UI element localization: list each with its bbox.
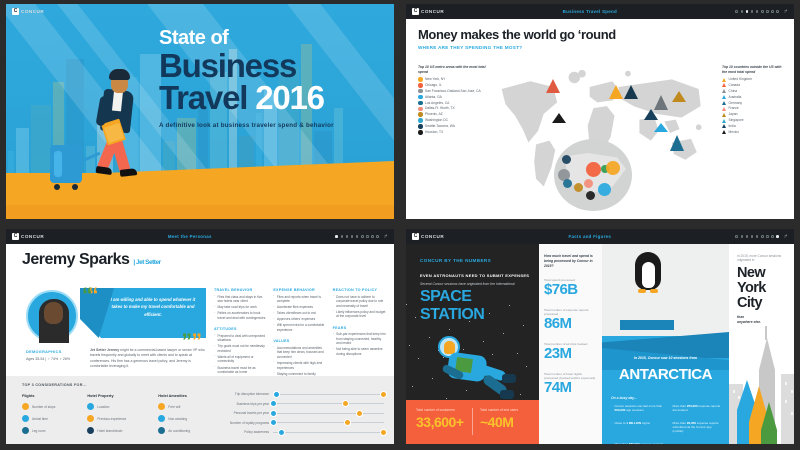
- legend-item-label: Australia: [729, 95, 742, 100]
- concur-logo[interactable]: C CONCUR: [12, 233, 44, 240]
- consideration-label: Hotel brand/chain: [97, 429, 122, 433]
- stat-value: 74M: [544, 380, 597, 397]
- legend-dot-icon: [418, 95, 423, 100]
- persona-bullet: Flies first class and stays in five-star…: [214, 295, 267, 304]
- persona-bullet: Accelerate files expenses: [273, 305, 326, 310]
- expand-icon[interactable]: ↱: [784, 234, 788, 240]
- page-dot-8[interactable]: [771, 235, 774, 238]
- concur-logo-text: CONCUR: [21, 9, 44, 14]
- legend-item-label: Canada: [729, 83, 741, 88]
- slider-track[interactable]: [273, 413, 384, 414]
- page-dot-8[interactable]: [771, 10, 774, 13]
- consideration-row[interactable]: Location: [87, 403, 126, 410]
- legend-item[interactable]: Houston, TX: [418, 130, 488, 135]
- consideration-column: Hotel PropertyLocationPrevious experienc…: [87, 394, 126, 439]
- title-line-3: Travel 2016: [159, 82, 384, 114]
- persona-columns: TRAVEL BEHAVIORFlies first class and sta…: [214, 288, 386, 383]
- persona-bullet: Files and reports when travel is complet…: [273, 295, 326, 304]
- title-word-travel: Travel: [159, 79, 247, 116]
- page-dot-1[interactable]: [735, 10, 738, 13]
- consideration-label: Arrival time: [32, 417, 48, 421]
- consideration-label: Leg room: [32, 429, 45, 433]
- slider-track[interactable]: [273, 394, 384, 395]
- legend-item[interactable]: Dallas-Ft. Worth, TX: [418, 106, 488, 111]
- legend-triangle-icon: [722, 89, 726, 93]
- legend-countries-title: Top 10 countries outside the US with the…: [722, 65, 786, 74]
- stat-value: $76B: [544, 282, 597, 299]
- consideration-header: Hotel Amenities: [158, 394, 190, 398]
- facts-canvas: CONCUR BY THE NUMBERS EVEN ASTRONAUTS NE…: [406, 244, 794, 444]
- page-dot-9[interactable]: [776, 10, 779, 13]
- consideration-row[interactable]: Non-smoking: [158, 415, 190, 422]
- legend-countries-items: United KingdomCanadaChinaAustraliaGerman…: [722, 77, 786, 134]
- consideration-row[interactable]: Free wifi: [158, 403, 190, 410]
- persona-bullet: Does not have to adhere to corporate tra…: [333, 295, 386, 309]
- consideration-row[interactable]: Number of stops: [22, 403, 55, 410]
- legend-item-label: Dallas-Ft. Worth, TX: [425, 106, 455, 111]
- legend-triangle-icon: [722, 119, 726, 123]
- legend-item[interactable]: India: [722, 124, 786, 129]
- concur-logo[interactable]: C CONCUR: [412, 233, 444, 240]
- nyc-line-2: York: [737, 281, 794, 296]
- us-magnifier[interactable]: [554, 139, 632, 211]
- slide-persona[interactable]: C CONCUR Meet the Personas ↱ Jeremy Spar…: [0, 225, 400, 450]
- nyc-line-3: City: [737, 296, 794, 311]
- consideration-label: Location: [97, 405, 109, 409]
- legend-us-title: Top 10 US metro areas with the most tota…: [418, 65, 488, 74]
- clock-icon: [22, 415, 29, 422]
- slider-group[interactable]: Trip disruption toleranceBusiness trips …: [199, 392, 384, 440]
- busy-bullet: More than 580,000 expense receipts uploa…: [611, 442, 664, 444]
- page-dot-9[interactable]: [376, 235, 379, 238]
- title-subtitle: A definitive look at business traveler s…: [159, 122, 384, 129]
- legend-us-metros: Top 10 US metro areas with the most tota…: [418, 65, 488, 136]
- page-dot-7[interactable]: [366, 235, 369, 238]
- stat-customers-value: 33,600+: [416, 414, 464, 430]
- busy-bullet: Concur sessions can last more than 560,0…: [611, 404, 664, 412]
- chrome-title: Business Travel Spend: [563, 9, 617, 14]
- stat-endusers-value: ~40M: [480, 414, 518, 430]
- legend-item[interactable]: Chicago, IL: [418, 83, 488, 88]
- slider-knob-orange[interactable]: [380, 391, 387, 398]
- slider-row[interactable]: Number of loyalty programs: [199, 421, 384, 425]
- expand-icon[interactable]: ↱: [384, 234, 388, 240]
- seat-icon: [22, 427, 29, 434]
- penguin-icon: [635, 252, 661, 294]
- hair: [109, 69, 130, 80]
- legend-triangle-icon: [722, 113, 726, 117]
- ground-shadow: [6, 205, 394, 219]
- slide-title[interactable]: State of Business Travel 2016 A definiti…: [0, 0, 400, 225]
- numbers-list: Total spend processed$76BTotal number of…: [544, 278, 597, 397]
- persona-block: REACTION TO POLICYDoes not have to adher…: [333, 288, 386, 319]
- page-dot-3[interactable]: [346, 235, 349, 238]
- legend-item-label: India: [729, 124, 736, 129]
- page-dot-2[interactable]: [741, 235, 744, 238]
- persona-bullet: Takes client/team out to eat: [273, 311, 326, 316]
- space-station-panel: CONCUR BY THE NUMBERS EVEN ASTRONAUTS NE…: [406, 244, 539, 444]
- considerations-columns: FlightsNumber of stopsArrival timeLeg ro…: [22, 394, 190, 439]
- persona-block-list: Files and reports when travel is complet…: [273, 295, 326, 333]
- space-heading: EVEN ASTRONAUTS NEED TO SUBMIT EXPENSES: [420, 273, 539, 278]
- map-canvas: Money makes the world go ‘round WHERE AR…: [406, 19, 794, 219]
- page-dot-5[interactable]: [756, 10, 759, 13]
- legend-item-label: Germany: [729, 101, 743, 106]
- legend-dot-icon: [418, 83, 423, 88]
- legend-dot-icon: [418, 89, 423, 94]
- slider-knob-orange[interactable]: [342, 400, 349, 407]
- marker-china: [654, 95, 668, 110]
- slider-knob-orange[interactable]: [344, 419, 351, 426]
- page-dot-5[interactable]: [756, 235, 759, 238]
- marker-north-america: [546, 79, 560, 93]
- chrome-title: Facts and Figures: [568, 234, 611, 239]
- slider-row[interactable]: Business trips per year: [199, 402, 384, 406]
- star: [406, 304, 407, 305]
- legend-item[interactable]: Los Angeles, CA: [418, 101, 488, 106]
- busy-bullet: More than 29,000 expense reports submitt…: [669, 421, 722, 434]
- suitcase-wheel: [72, 184, 78, 190]
- legend-item-label: China: [729, 89, 738, 94]
- legend-item[interactable]: Australia: [722, 95, 786, 100]
- busy-bullet-value: 29,000: [687, 421, 696, 425]
- consideration-label: Number of stops: [32, 405, 55, 409]
- map-subheading: WHERE ARE THEY SPENDING THE MOST?: [418, 45, 794, 50]
- legend-dot-icon: [418, 118, 423, 123]
- avatar-head: [44, 302, 63, 324]
- building-icon: [87, 427, 94, 434]
- slider-track[interactable]: [273, 422, 384, 423]
- busy-bullet-value: 580,000: [629, 442, 640, 444]
- persona-bullet: Wants all of equipment or connectivity: [214, 355, 267, 364]
- marker-japan: [672, 91, 686, 102]
- persona-bullet: May take road trips for work: [214, 305, 267, 310]
- persona-paragraph-lead: Jet Setter Jeremy: [90, 348, 119, 352]
- persona-name-row: Jeremy Sparks | Jet Setter: [22, 251, 394, 269]
- chrome-title: Meet the Personas: [168, 234, 212, 239]
- suitcase-highlight: [54, 151, 62, 177]
- consideration-column: Hotel AmenitiesFree wifiNon-smokingAir c…: [158, 394, 190, 439]
- ac-icon: [158, 427, 165, 434]
- persona-block-list: Does not have to adhere to corporate tra…: [333, 295, 386, 319]
- legend-dot-icon: [418, 124, 423, 129]
- slider-row[interactable]: Policy awareness: [199, 430, 384, 434]
- wifi-icon: [158, 403, 165, 410]
- consideration-label: Previous experience: [97, 417, 126, 421]
- legend-item-label: Houston, TX: [425, 130, 443, 135]
- slider-track[interactable]: [273, 432, 384, 433]
- customer-stats-band: Total number of customers 33,600+ Total …: [406, 400, 539, 444]
- legend-triangle-icon: [722, 78, 726, 82]
- persona-bullet: Will spend extra for a comfortable exper…: [273, 323, 326, 332]
- consideration-row[interactable]: Leg room: [22, 427, 55, 434]
- concur-logo-mark: C: [412, 8, 419, 15]
- slider-knob-orange[interactable]: [380, 429, 387, 436]
- slide-facts[interactable]: C CONCUR Facts and Figures ↱ CONCUR BY T…: [400, 225, 800, 450]
- persona-bullet: Prepared to deal with unexpected situati…: [214, 334, 267, 343]
- slider-label: Policy awareness: [199, 430, 269, 434]
- legend-triangle-icon: [722, 124, 726, 128]
- legend-us-items: New York, NYChicago, ILSan Francisco-Oak…: [418, 77, 488, 134]
- slider-knob-blue[interactable]: [270, 400, 277, 407]
- nyc-skyline: [729, 324, 794, 444]
- concur-logo-text: CONCUR: [421, 9, 444, 14]
- persona-paragraph: Jet Setter Jeremy might be a commercial-…: [90, 348, 208, 369]
- marker-mexico: [552, 113, 566, 123]
- legend-item[interactable]: San Francisco-Oakland-San Jose, CA: [418, 89, 488, 94]
- map-heading: Money makes the world go ‘round: [418, 27, 794, 42]
- title-year: 2016: [255, 79, 324, 116]
- persona-block-header: FEARS: [333, 326, 386, 330]
- concur-logo[interactable]: C CONCUR: [412, 8, 444, 15]
- persona-block-header: ATTITUDES: [214, 327, 267, 331]
- considerations-header: TOP 3 CONSIDERATIONS FOR...: [22, 383, 87, 387]
- persona-column: EXPENSE BEHAVIORFiles and reports when t…: [273, 288, 326, 383]
- slide-grid: State of Business Travel 2016 A definiti…: [0, 0, 800, 450]
- slider-row[interactable]: Trip disruption tolerance: [199, 392, 384, 396]
- persona-column: REACTION TO POLICYDoes not have to adher…: [333, 288, 386, 383]
- consideration-label: Air conditioning: [168, 429, 190, 433]
- nyc-sub: than anywhere else.: [737, 315, 794, 324]
- consideration-header: Hotel Property: [87, 394, 126, 398]
- page-dot-3[interactable]: [746, 10, 749, 13]
- marker-singapore: [654, 123, 668, 132]
- marker-germany: [624, 85, 638, 99]
- legend-dot-icon: [418, 130, 423, 135]
- slider-label: Number of loyalty programs: [199, 421, 269, 425]
- consideration-header: Flights: [22, 394, 55, 398]
- page-indicator-dots[interactable]: [735, 235, 778, 238]
- iceberg-top: [620, 320, 674, 330]
- legend-item-label: New York, NY: [425, 77, 445, 82]
- busy-bullet-value: 1 MILLION: [626, 421, 641, 425]
- space-kicker: CONCUR BY THE NUMBERS: [420, 258, 539, 263]
- persona-block-list: Accommodations and amenities that keep h…: [273, 346, 326, 376]
- concur-logo[interactable]: C CONCUR: [12, 8, 44, 15]
- concur-logo-mark: C: [12, 8, 19, 15]
- star: [409, 345, 410, 346]
- persona-block: EXPENSE BEHAVIORFiles and reports when t…: [273, 288, 326, 332]
- legend-item-label: Chicago, IL: [425, 83, 442, 88]
- traveler-illustration: [84, 69, 164, 189]
- concur-logo-text: CONCUR: [21, 234, 44, 239]
- legend-item[interactable]: Japan: [722, 112, 786, 117]
- penguin-foot: [638, 289, 646, 293]
- page-dot-5[interactable]: [356, 235, 359, 238]
- penguin-foot: [650, 289, 658, 293]
- legend-item-label: San Francisco-Oakland-San Jose, CA: [425, 89, 481, 94]
- bubble-phoenix: [574, 183, 583, 192]
- slider-label: Business trips per year: [199, 402, 269, 406]
- band-divider: [472, 408, 473, 435]
- antarctica-panel: In 2015, Concur saw 10 sessions from ANT…: [602, 244, 729, 444]
- page-dot-4[interactable]: [751, 10, 754, 13]
- busy-bullet: Close to 1 MILLION logins: [611, 421, 664, 434]
- persona-block: VALUESAccommodations and amenities that …: [273, 339, 326, 376]
- page-dot-2[interactable]: [741, 10, 744, 13]
- legend-item[interactable]: Mexico: [722, 130, 786, 135]
- legend-item[interactable]: Washington DC: [418, 118, 488, 123]
- legend-item-label: United Kingdom: [729, 77, 752, 82]
- consideration-row[interactable]: Arrival time: [22, 415, 55, 422]
- slider-knob-orange[interactable]: [356, 410, 363, 417]
- bubble-newyork: [606, 161, 620, 175]
- persona-bullet: Not being able to seem assertive during …: [333, 347, 386, 356]
- page-dot-7[interactable]: [766, 10, 769, 13]
- legend-item[interactable]: Singapore: [722, 118, 786, 123]
- nyc-big: New York City: [737, 266, 794, 310]
- legend-item[interactable]: New York, NY: [418, 77, 488, 82]
- legend-item-label: Washington DC: [425, 118, 448, 123]
- legend-item-label: Los Angeles, CA: [425, 101, 449, 106]
- page-dot-9[interactable]: [776, 235, 779, 238]
- bubble-houston: [586, 191, 595, 200]
- location-icon: [87, 403, 94, 410]
- consideration-row[interactable]: Previous experience: [87, 415, 126, 422]
- legend-item[interactable]: China: [722, 89, 786, 94]
- consideration-row[interactable]: Hotel brand/chain: [87, 427, 126, 434]
- slider-row[interactable]: Personal travels per year: [199, 411, 384, 415]
- astronaut-boot-2: [500, 390, 514, 399]
- persona-block-header: EXPENSE BEHAVIOR: [273, 288, 326, 292]
- demographics-label: DEMOGRAPHICS: [26, 350, 62, 354]
- bubble-chicago: [586, 162, 601, 177]
- legend-triangle-icon: [722, 107, 726, 111]
- stat-endusers-label: Total number of end users: [480, 408, 518, 412]
- page-dot-3[interactable]: [746, 235, 749, 238]
- page-dot-7[interactable]: [766, 235, 769, 238]
- legend-item[interactable]: Germany: [722, 101, 786, 106]
- legend-item[interactable]: Seattle-Tacoma, WA: [418, 124, 488, 129]
- chrome-bar-title: C CONCUR: [6, 4, 394, 19]
- persona-block: FEARSSub-par experiences that keep him f…: [333, 326, 386, 357]
- expand-icon[interactable]: ↱: [784, 9, 788, 15]
- legend-item-label: Japan: [729, 112, 738, 117]
- legend-item-label: Mexico: [729, 130, 739, 135]
- legend-item-label: Singapore: [729, 118, 744, 123]
- considerations-band: TOP 3 CONSIDERATIONS FOR... FlightsNumbe…: [6, 376, 394, 444]
- page-dot-4[interactable]: [751, 235, 754, 238]
- busy-day-list: Concur sessions can last more than 560,0…: [611, 404, 722, 444]
- legend-countries: Top 10 countries outside the US with the…: [722, 65, 786, 136]
- bubble-losangeles: [563, 179, 572, 188]
- marker-australia: [670, 135, 684, 151]
- legend-triangle-icon: [722, 83, 726, 87]
- shoe-back: [96, 166, 113, 175]
- page-indicator-dots[interactable]: [735, 10, 778, 13]
- slider-label: Personal travels per year: [199, 411, 269, 415]
- consideration-row[interactable]: Air conditioning: [158, 427, 190, 434]
- legend-triangle-icon: [722, 95, 726, 99]
- newyork-panel: In 2015, more Concur sessions originated…: [729, 244, 794, 444]
- building: [31, 105, 51, 181]
- slider-knob-blue[interactable]: [270, 419, 277, 426]
- persona-bullet: Sub-par experiences that keep him from s…: [333, 332, 386, 346]
- star: [449, 329, 450, 330]
- persona-block-header: TRAVEL BEHAVIOR: [214, 288, 267, 292]
- slider-knob-blue[interactable]: [270, 410, 277, 417]
- page-indicator-dots[interactable]: [335, 235, 378, 238]
- page-dot-1[interactable]: [335, 235, 338, 238]
- suitcase-wheel: [54, 184, 60, 190]
- pin-icon: [22, 403, 29, 410]
- demographics-value: Ages 35-54 | ♂ 74% ♀ 26%: [26, 357, 70, 361]
- antarctica-sub: In 2015, Concur saw 10 sessions from: [602, 356, 729, 360]
- slider-knob-blue[interactable]: [273, 391, 280, 398]
- page-dot-4[interactable]: [351, 235, 354, 238]
- consideration-label: Non-smoking: [168, 417, 187, 421]
- persona-bullet: Impressing clients with high-end experie…: [273, 361, 326, 370]
- persona-column: TRAVEL BEHAVIORFlies first class and sta…: [214, 288, 267, 383]
- penguin-belly: [642, 262, 655, 288]
- bubble-dallas: [584, 179, 593, 188]
- star-icon: [87, 415, 94, 422]
- stat-value: 86M: [544, 316, 597, 333]
- legend-item-label: Seattle-Tacoma, WA: [425, 124, 455, 129]
- title-canvas: State of Business Travel 2016 A definiti…: [6, 4, 394, 219]
- legend-item[interactable]: Atlanta, GA: [418, 95, 488, 100]
- legend-item[interactable]: France: [722, 106, 786, 111]
- star: [412, 386, 413, 387]
- chrome-bar-facts: C CONCUR Facts and Figures ↱: [406, 229, 794, 244]
- page-dot-6[interactable]: [361, 235, 364, 238]
- antarctica-big: ANTARCTICA: [602, 366, 729, 383]
- slider-track[interactable]: [273, 403, 384, 404]
- persona-block-header: REACTION TO POLICY: [333, 288, 386, 292]
- shoe-front: [120, 168, 138, 177]
- consideration-column: FlightsNumber of stopsArrival timeLeg ro…: [22, 394, 55, 439]
- astronaut-boot-1: [502, 374, 516, 383]
- marker-india: [644, 109, 658, 120]
- stat-customers: Total number of customers 33,600+: [416, 408, 464, 430]
- concur-logo-mark: C: [12, 233, 19, 240]
- legend-item-label: France: [729, 106, 739, 111]
- persona-bullet: Accommodations and amenities that keep h…: [273, 346, 326, 360]
- legend-triangle-icon: [722, 101, 726, 105]
- slider-knob-blue[interactable]: [278, 429, 285, 436]
- busy-bullet-value: 560,000: [615, 408, 626, 412]
- persona-block: ATTITUDESPrepared to deal with unexpecte…: [214, 327, 267, 374]
- legend-item-label: Phoenix, AZ: [425, 112, 443, 117]
- persona-bullet: Business travel must be as comfortable a…: [214, 366, 267, 375]
- title-line-2: Business: [159, 50, 384, 82]
- world-map[interactable]: [494, 51, 714, 213]
- persona-quote-box: “ “ ” ” I am willing and able to spend w…: [84, 288, 206, 338]
- legend-item[interactable]: Phoenix, AZ: [418, 112, 488, 117]
- page-dot-6[interactable]: [761, 10, 764, 13]
- title-block: State of Business Travel 2016 A definiti…: [159, 28, 384, 129]
- page-dot-1[interactable]: [735, 235, 738, 238]
- persona-canvas: Jeremy Sparks | Jet Setter DEMOGRAPHICS …: [6, 244, 394, 444]
- slide-map[interactable]: C CONCUR Business Travel Spend ↱ Money m…: [400, 0, 800, 225]
- page-dot-6[interactable]: [761, 235, 764, 238]
- slider-label: Trip disruption tolerance: [199, 392, 269, 396]
- quote-open-icon-2: “: [82, 285, 93, 306]
- nyc-lead: In 2015, more Concur sessions originated…: [737, 254, 786, 263]
- stat-value: 23M: [544, 346, 597, 363]
- page-dot-2[interactable]: [341, 235, 344, 238]
- concur-logo-mark: C: [412, 233, 419, 240]
- avatar: [26, 290, 78, 342]
- page-dot-8[interactable]: [371, 235, 374, 238]
- persona-bullet: Approves others' expenses: [273, 317, 326, 322]
- bubble-atlanta: [598, 183, 611, 196]
- persona-block-list: Prepared to deal with unexpected situati…: [214, 334, 267, 375]
- legend-item[interactable]: United Kingdom: [722, 77, 786, 82]
- persona-block-list: Flies first class and stays in five-star…: [214, 295, 267, 321]
- space-sub: Several Concur sessions have originated …: [420, 282, 539, 286]
- legend-item[interactable]: Canada: [722, 83, 786, 88]
